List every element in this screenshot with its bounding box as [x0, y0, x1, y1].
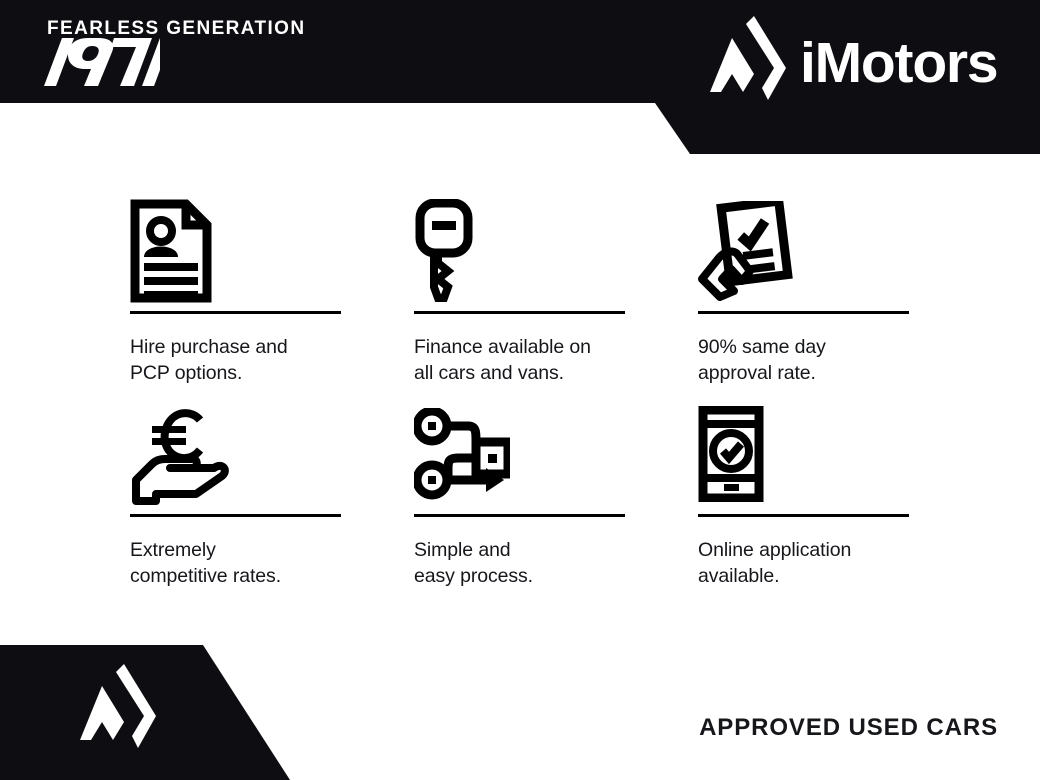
- year-1971-wordmark: [30, 38, 160, 86]
- feature-caption: 90% same day approval rate.: [698, 334, 909, 387]
- imotors-logo: iMotors: [702, 18, 1002, 108]
- smartphone-check-icon: [698, 406, 764, 502]
- icon-container: [130, 399, 341, 509]
- icon-container: [698, 196, 909, 306]
- footer-imotors-chevron-mark-icon: [72, 664, 156, 759]
- divider-line: [414, 311, 625, 314]
- icon-container: [130, 196, 341, 306]
- feature-item-hire-purchase: Hire purchase and PCP options.: [130, 196, 341, 387]
- icon-container: [414, 196, 625, 306]
- feature-item-finance-available: Finance available on all cars and vans.: [414, 196, 625, 387]
- poster-root: FEARLESS GENERATION iMotors: [0, 0, 1040, 780]
- feature-caption: Hire purchase and PCP options.: [130, 334, 341, 387]
- imotors-chevron-mark-icon: [702, 16, 786, 111]
- icon-container: [414, 399, 625, 509]
- feature-item-simple-process: Simple and easy process.: [414, 399, 625, 590]
- divider-line: [698, 311, 909, 314]
- feature-row-1: Hire purchase and PCP options. Finance a…: [130, 196, 910, 387]
- document-person-icon: [130, 199, 212, 303]
- hand-holding-approved-document-icon: [698, 201, 796, 301]
- feature-caption: Finance available on all cars and vans.: [414, 334, 625, 387]
- car-key-icon: [414, 199, 474, 303]
- feature-caption: Simple and easy process.: [414, 537, 625, 590]
- euro-in-hand-icon: [130, 402, 234, 506]
- feature-grid: Hire purchase and PCP options. Finance a…: [130, 196, 910, 589]
- feature-caption: Online application available.: [698, 537, 909, 590]
- feature-item-online-application: Online application available.: [698, 399, 909, 590]
- feature-caption: Extremely competitive rates.: [130, 537, 341, 590]
- process-flowchart-icon: [414, 408, 510, 500]
- icon-container: [698, 399, 909, 509]
- divider-line: [130, 514, 341, 517]
- feature-item-competitive-rates: Extremely competitive rates.: [130, 399, 341, 590]
- footer-approved-used-cars-text: APPROVED USED CARS: [699, 714, 998, 742]
- divider-line: [130, 311, 341, 314]
- feature-row-2: Extremely competitive rates.: [130, 399, 910, 590]
- feature-item-same-day-approval: 90% same day approval rate.: [698, 196, 909, 387]
- divider-line: [698, 514, 909, 517]
- header-bar: FEARLESS GENERATION iMotors: [0, 0, 1040, 154]
- header-tagline: FEARLESS GENERATION: [47, 19, 306, 38]
- imotors-wordmark: iMotors: [800, 35, 997, 92]
- divider-line: [414, 514, 625, 517]
